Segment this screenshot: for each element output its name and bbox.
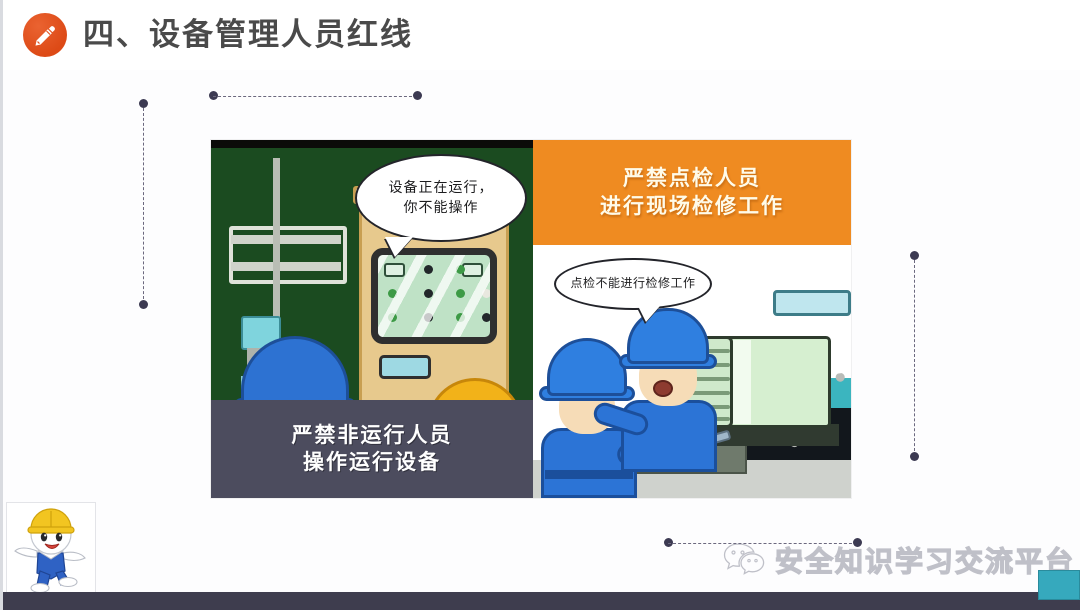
slide-header: 四、设备管理人员红线 <box>3 0 1080 70</box>
left-bubble-line1: 设备正在运行， <box>389 178 494 198</box>
speech-bubble-icon-right: 点检不能进行检修工作 <box>554 258 712 310</box>
decor-line-left-vertical <box>143 108 144 304</box>
decor-dot-right-bottom <box>910 452 919 461</box>
decor-dot-top-end <box>413 91 422 100</box>
cabinet-lower-display <box>379 355 431 379</box>
decor-dot-top-left <box>139 99 148 108</box>
slide-canvas: 四、设备管理人员红线 <box>0 0 1080 610</box>
left-panel-caption: 严禁非运行人员 操作运行设备 <box>211 400 533 498</box>
left-caption-line2: 操作运行设备 <box>303 449 441 476</box>
illustration-composite: 严禁非运行人员 操作运行设备 <box>211 140 851 498</box>
wechat-icon <box>723 541 765 579</box>
overhead-pipe <box>773 290 851 316</box>
pipe-horizontal-lower <box>231 262 341 271</box>
motor-highlight <box>733 340 751 424</box>
decor-dot-left-bottom <box>139 300 148 309</box>
right-illustration-panel: 严禁点检人员 进行现场检修工作 <box>533 140 851 498</box>
worker-d-body <box>621 400 717 472</box>
decor-dot-right-top <box>910 251 919 260</box>
watermark: 安全知识学习交流平台 <box>723 540 1075 580</box>
safety-mascot <box>6 502 96 594</box>
footer-bar <box>3 592 1080 610</box>
worker-d-mouth <box>653 380 673 397</box>
decor-line-top-horizontal <box>213 96 417 97</box>
left-bubble-line2: 你不能操作 <box>404 198 479 218</box>
right-panel-banner: 严禁点检人员 进行现场检修工作 <box>533 140 851 245</box>
watermark-text: 安全知识学习交流平台 <box>775 540 1075 580</box>
right-bubble-line1: 点检不能进行检修工作 <box>570 275 695 292</box>
pencil-badge-icon <box>23 13 67 57</box>
worker-c-belt <box>545 470 633 479</box>
footer-accent-tab[interactable] <box>1038 570 1080 600</box>
left-caption-line1: 严禁非运行人员 <box>292 422 453 449</box>
control-panel-screen <box>371 248 497 344</box>
right-banner-line1: 严禁点检人员 <box>623 165 761 193</box>
decor-line-right-vertical <box>914 260 915 456</box>
page-title: 四、设备管理人员红线 <box>83 20 413 51</box>
right-banner-line2: 进行现场检修工作 <box>600 193 784 221</box>
pipe-horizontal-upper <box>231 235 341 244</box>
speech-bubble-icon-left: 设备正在运行， 你不能操作 <box>355 154 527 242</box>
screen-glare <box>378 255 490 337</box>
